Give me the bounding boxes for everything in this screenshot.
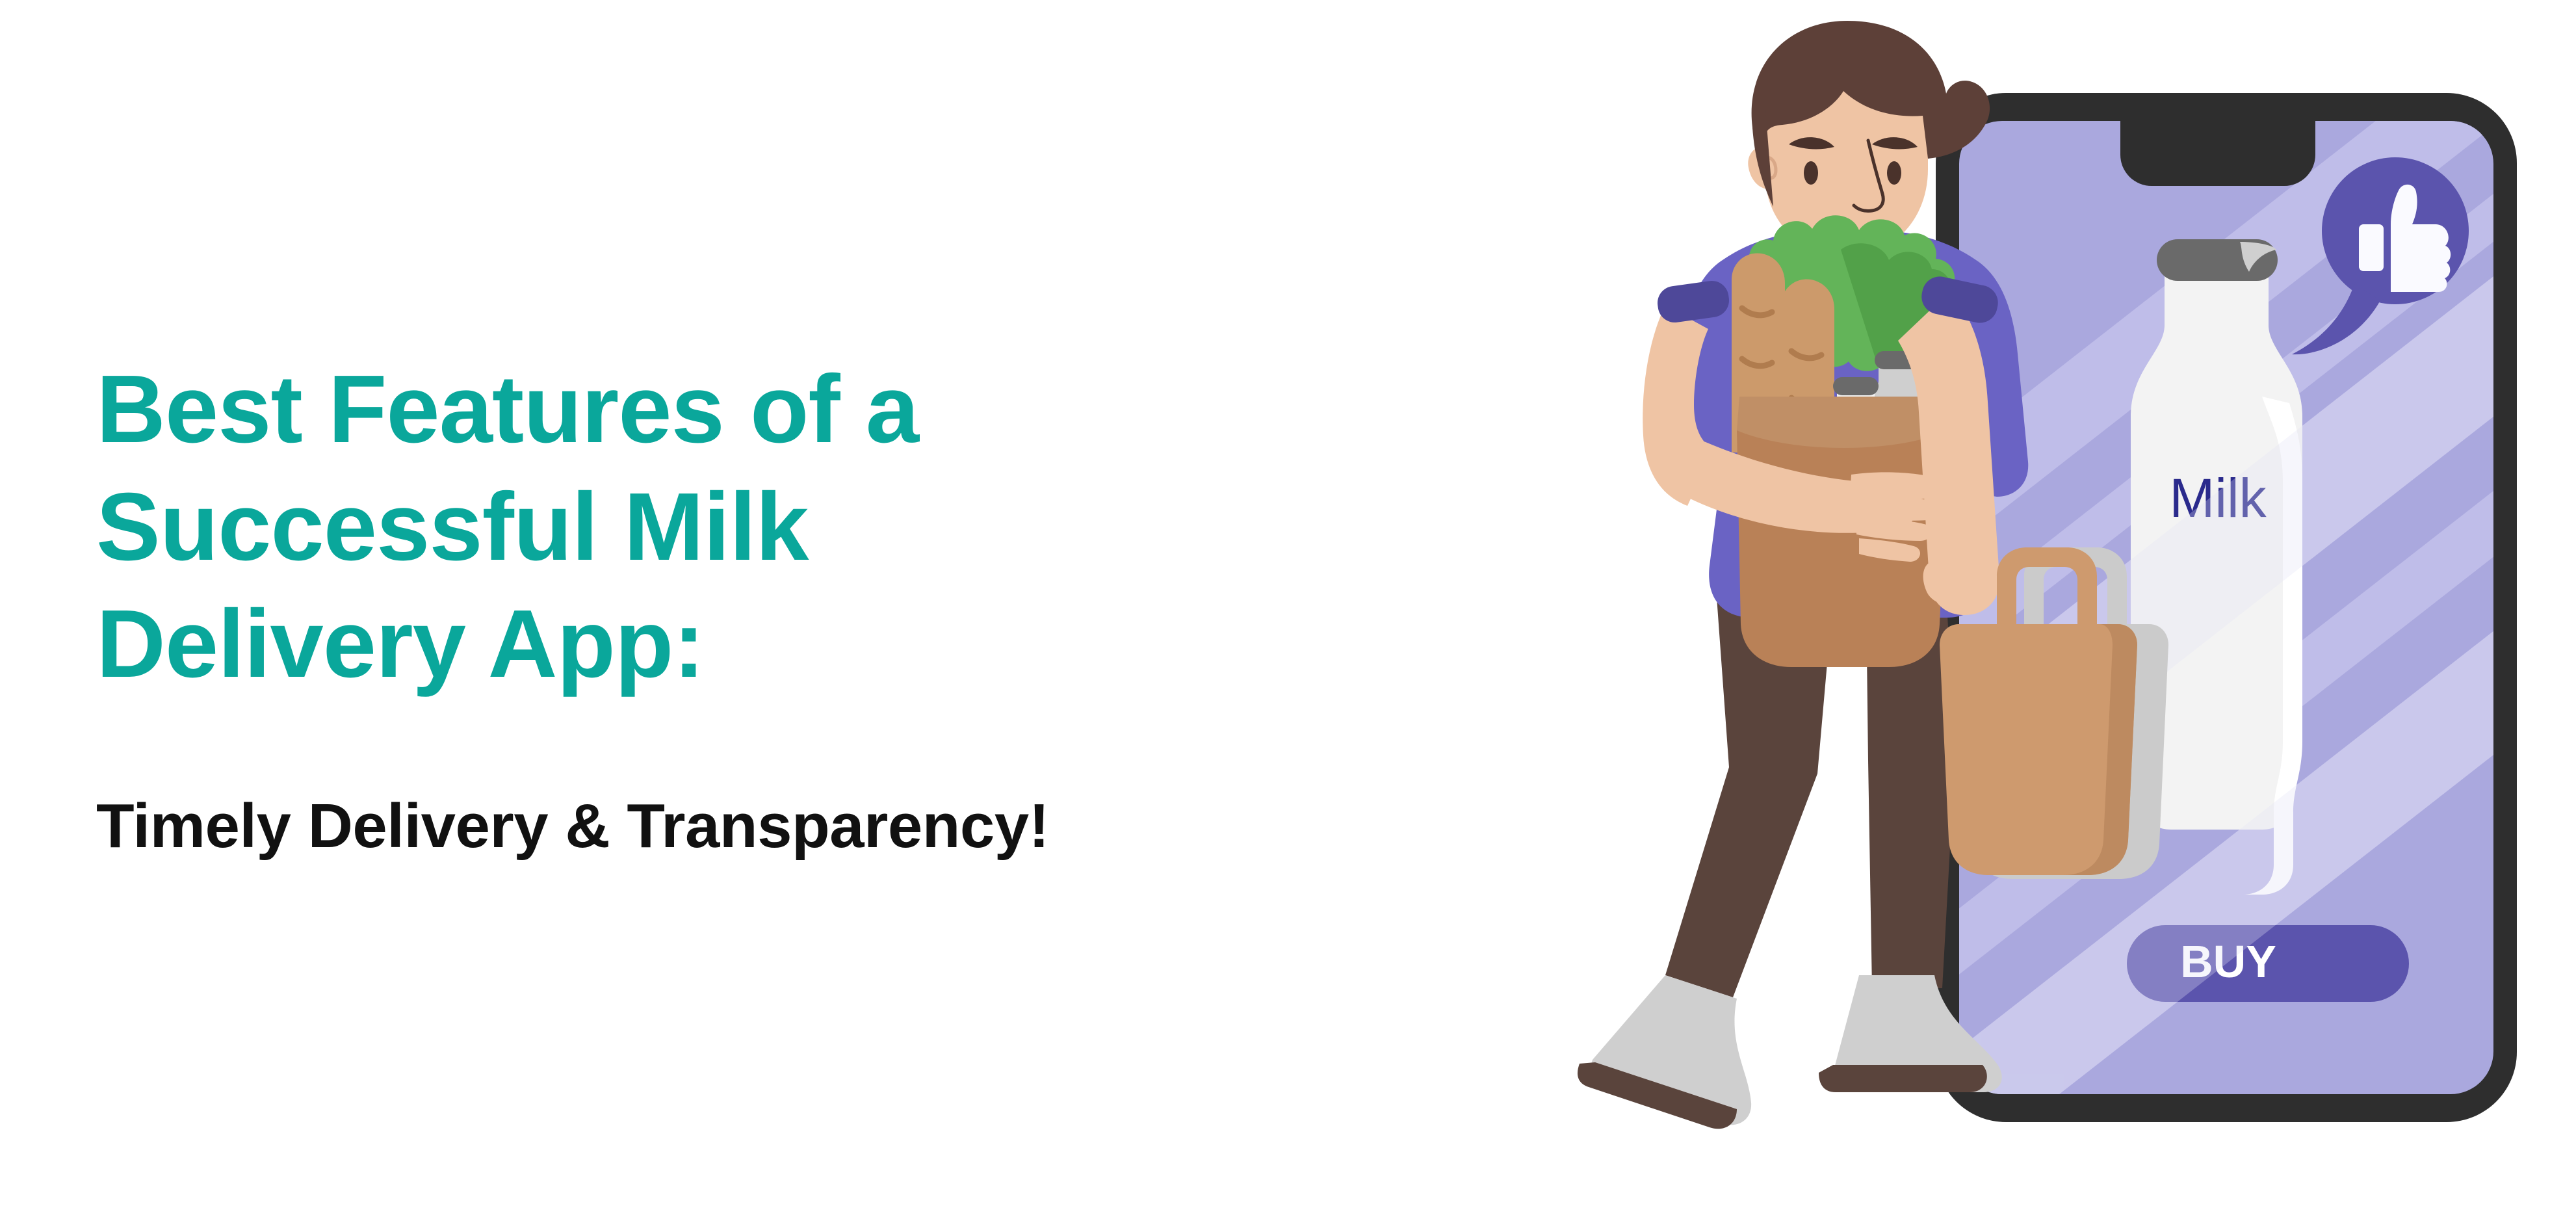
headline-line-3: Delivery App: (96, 586, 1461, 703)
eye-right (1887, 161, 1901, 185)
eye-left (1804, 161, 1818, 185)
hero-illustration: Milk BUY (1560, 0, 2576, 1219)
phone-notch (2120, 121, 2315, 186)
page-title: Best Features of a Successful Milk Deliv… (96, 351, 1461, 703)
page-subtitle: Timely Delivery & Transparency! (96, 792, 1049, 861)
headline-line-2: Successful Milk (96, 469, 1461, 586)
promo-banner: Best Features of a Successful Milk Deliv… (0, 0, 2576, 1219)
front-shoe (1578, 975, 1751, 1129)
headline-line-1: Best Features of a (96, 351, 1461, 469)
